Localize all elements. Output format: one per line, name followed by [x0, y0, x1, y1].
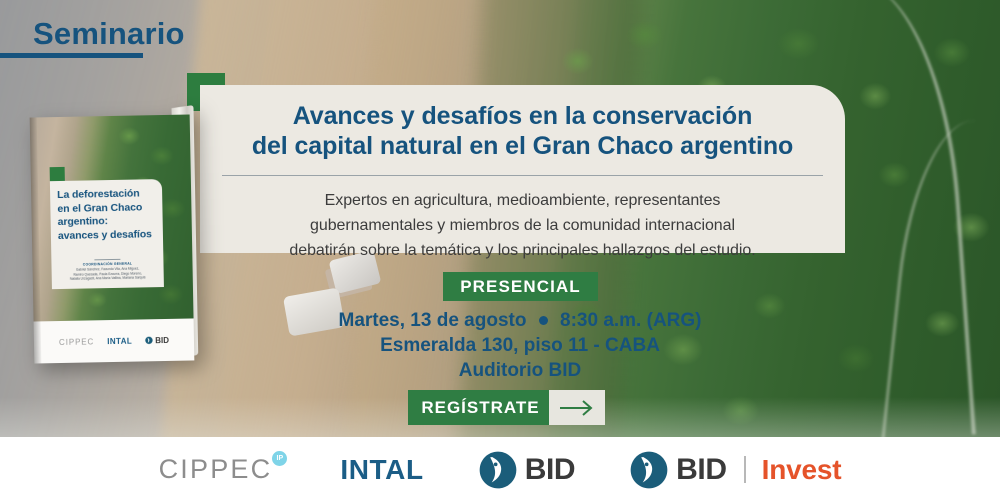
- card-divider: [222, 175, 823, 176]
- book-footer-logos: CIPPEC INTAL BID: [34, 318, 195, 363]
- bid-globe-icon: [629, 450, 669, 490]
- register-button-label: REGÍSTRATE: [408, 398, 549, 418]
- book-logo-intal: INTAL: [107, 336, 132, 345]
- event-time: 8:30 a.m. (ARG): [560, 310, 701, 331]
- page-title-line-1: Avances y desafíos en la conservación: [222, 101, 823, 131]
- logo-cippec-text: CIPPEC: [159, 454, 273, 484]
- logo-bid-invest: BID Invest: [629, 450, 841, 490]
- logo-cippec: CIPPEC IP: [159, 454, 273, 485]
- book-credits-line-3: Natalia Urzagasti, Ana María Vallina, Ma…: [58, 275, 158, 282]
- register-arrow-box[interactable]: [549, 390, 605, 425]
- logo-bid: BID: [478, 450, 575, 490]
- book-credits-panel: COORDINACIÓN GENERAL Gabriel Sánchez, Fa…: [51, 255, 164, 289]
- book-logo-bid: BID: [145, 335, 169, 344]
- separator-dot-icon: [539, 316, 548, 325]
- logo-intal-text: INTAL: [340, 454, 423, 486]
- book-front-cover: La deforestación en el Gran Chaco argent…: [30, 114, 195, 363]
- book-green-square-accent: [50, 167, 65, 182]
- event-venue: Auditorio BID: [250, 358, 790, 383]
- book-logo-bid-text: BID: [155, 335, 169, 344]
- book-logo-cippec: CIPPEC: [59, 337, 94, 347]
- card-description-line-3: debatirán sobre la temática y los princi…: [222, 238, 823, 263]
- logo-bid-invest-text: BID: [676, 453, 726, 487]
- footer-logo-bar: CIPPEC IP INTAL BID BID Invest: [0, 437, 1000, 502]
- event-details: Martes, 13 de agosto 8:30 a.m. (ARG) Esm…: [250, 308, 790, 383]
- card-description-line-1: Expertos en agricultura, medioambiente, …: [222, 188, 823, 213]
- book-credits-rule: [94, 259, 120, 260]
- book-title: La deforestación en el Gran Chaco argent…: [57, 187, 156, 243]
- content-card: Avances y desafíos en la conservación de…: [200, 85, 845, 253]
- bid-globe-icon: [145, 336, 153, 344]
- page-title-line-2: del capital natural en el Gran Chaco arg…: [222, 131, 823, 161]
- book-title-line-4: avances y desafíos: [58, 228, 156, 243]
- logo-bid-text: BID: [525, 453, 575, 487]
- arrow-right-icon: [560, 400, 594, 416]
- seminar-promo-banner: Seminario Avances y desafíos en la conse…: [0, 0, 1000, 502]
- card-description-line-2: gubernamentales y miembros de la comunid…: [222, 213, 823, 238]
- card-description: Expertos en agricultura, medioambiente, …: [222, 188, 823, 263]
- book-title-panel: La deforestación en el Gran Chaco argent…: [50, 179, 163, 257]
- logo-invest-text: Invest: [762, 454, 842, 486]
- bid-globe-icon: [478, 450, 518, 490]
- event-date-time-line: Martes, 13 de agosto 8:30 a.m. (ARG): [250, 308, 790, 333]
- event-date: Martes, 13 de agosto: [339, 310, 527, 331]
- status-badge: PRESENCIAL: [443, 272, 598, 301]
- book-title-line-2: en el Gran Chaco: [57, 201, 155, 216]
- register-button[interactable]: REGÍSTRATE: [408, 390, 605, 425]
- book-credits-body: Gabriel Sánchez, Facundo Vila, Ana Migue…: [58, 266, 158, 282]
- cippec-badge-icon: IP: [272, 451, 287, 466]
- event-address: Esmeralda 130, piso 11 - CABA: [250, 333, 790, 358]
- logo-divider: [744, 456, 746, 483]
- logo-intal: INTAL: [326, 454, 423, 486]
- page-title: Avances y desafíos en la conservación de…: [222, 101, 823, 161]
- kicker-underline: [0, 53, 143, 58]
- report-book-mockup: La deforestación en el Gran Chaco argent…: [30, 114, 195, 363]
- kicker-label: Seminario: [33, 16, 185, 52]
